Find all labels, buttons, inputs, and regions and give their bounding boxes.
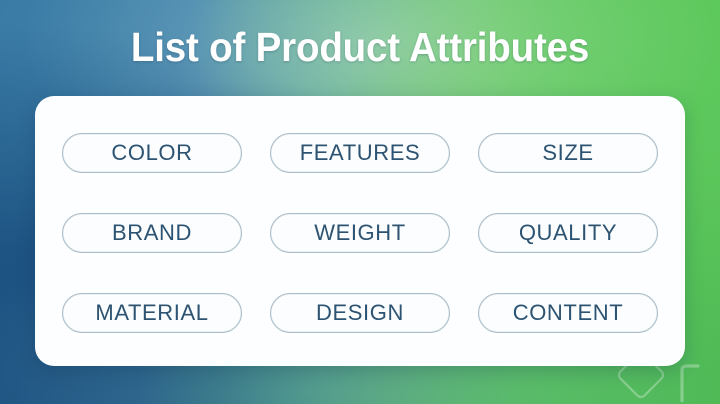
page-title: List of Product Attributes <box>22 21 699 73</box>
attributes-card: COLOR FEATURES SIZE BRAND WEIGHT QUALITY… <box>35 96 685 366</box>
attribute-pill-content[interactable]: CONTENT <box>478 293 658 333</box>
attribute-pill-quality[interactable]: QUALITY <box>478 213 658 253</box>
attribute-pill-size[interactable]: SIZE <box>478 133 658 173</box>
attribute-pill-weight[interactable]: WEIGHT <box>270 213 450 253</box>
attribute-pill-color[interactable]: COLOR <box>62 133 242 173</box>
attribute-pill-brand[interactable]: BRAND <box>62 213 242 253</box>
attribute-pill-design[interactable]: DESIGN <box>270 293 450 333</box>
attributes-grid: COLOR FEATURES SIZE BRAND WEIGHT QUALITY… <box>62 133 658 333</box>
attribute-pill-material[interactable]: MATERIAL <box>62 293 242 333</box>
attribute-pill-features[interactable]: FEATURES <box>270 133 450 173</box>
slide-canvas: List of Product Attributes COLOR FEATURE… <box>0 0 720 404</box>
